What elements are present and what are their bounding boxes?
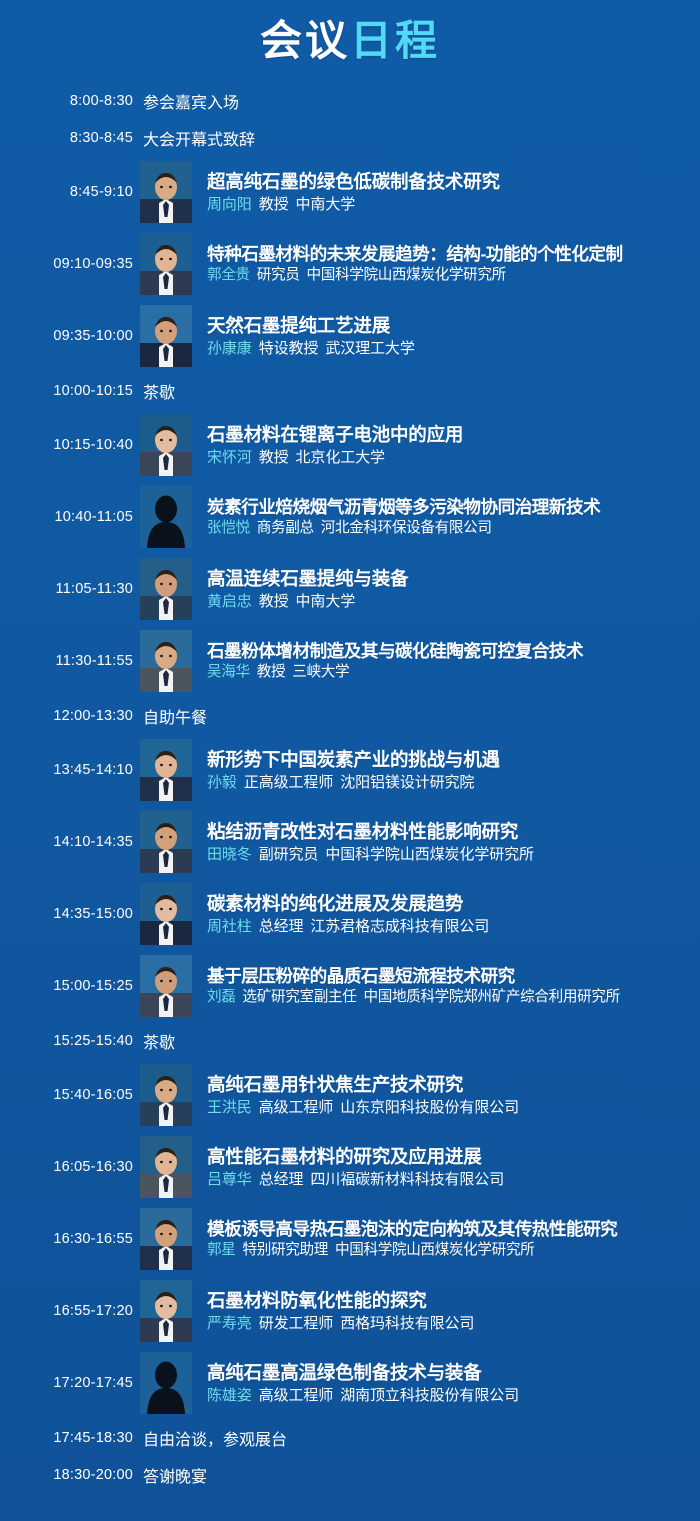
row-time: 15:40-16:05 — [0, 1087, 133, 1103]
row-time: 14:10-14:35 — [0, 834, 133, 850]
speaker-name: 周社柱 — [207, 918, 252, 935]
speaker-organization: 河北金科环保设备有限公司 — [321, 520, 492, 536]
speaker-name: 郭全贵 — [207, 267, 250, 283]
talk-meta: 王洪民高级工程师山东京阳科技股份有限公司 — [207, 1099, 694, 1116]
schedule-row-talk: 11:05-11:30高温连续石墨提纯与装备黄启忠教授中南大学 — [0, 553, 694, 625]
speaker-role: 正高级工程师 — [244, 774, 333, 791]
row-time: 10:40-11:05 — [0, 509, 133, 525]
schedule-row-break: 17:45-18:30自由洽谈，参观展台 — [0, 1419, 694, 1456]
speaker-portrait-icon — [140, 161, 192, 223]
row-time: 17:45-18:30 — [0, 1430, 133, 1446]
row-time: 8:00-8:30 — [0, 93, 133, 109]
speaker-role: 研究员 — [257, 267, 300, 283]
talk-body: 超高纯石墨的绿色低碳制备技术研究周向阳教授中南大学 — [192, 171, 694, 213]
schedule-list: 8:00-8:30参会嘉宾入场8:30-8:45大会开幕式致辞8:45-9:10… — [0, 82, 700, 1493]
schedule-row-talk: 10:15-10:40石墨材料在锂离子电池中的应用宋怀河教授北京化工大学 — [0, 409, 694, 481]
speaker-name: 孙康康 — [207, 340, 252, 357]
row-time: 14:35-15:00 — [0, 906, 133, 922]
talk-meta: 田晓冬副研究员中国科学院山西煤炭化学研究所 — [207, 846, 694, 863]
talk-meta: 陈雄姿高级工程师湖南顶立科技股份有限公司 — [207, 1387, 694, 1404]
talk-meta: 郭全贵研究员中国科学院山西煤炭化学研究所 — [207, 267, 694, 284]
speaker-portrait-icon — [140, 630, 192, 692]
speaker-role: 教授 — [259, 593, 289, 610]
row-time: 09:35-10:00 — [0, 328, 133, 344]
schedule-row-talk: 09:10-09:35特种石墨材料的未来发展趋势：结构-功能的个性化定制郭全贵研… — [0, 228, 694, 300]
talk-title: 碳素材料的纯化进展及发展趋势 — [207, 893, 694, 914]
row-time: 13:45-14:10 — [0, 762, 133, 778]
talk-title: 炭素行业焙烧烟气沥青烟等多污染物协同治理新技术 — [207, 497, 694, 517]
schedule-row-talk: 13:45-14:10新形势下中国炭素产业的挑战与机遇孙毅正高级工程师沈阳铝镁设… — [0, 734, 694, 806]
talk-meta: 孙康康特设教授武汉理工大学 — [207, 340, 694, 357]
speaker-portrait-icon — [140, 883, 192, 945]
talk-title: 基于层压粉碎的晶质石墨短流程技术研究 — [207, 966, 694, 986]
schedule-row-talk: 15:40-16:05高纯石墨用针状焦生产技术研究王洪民高级工程师山东京阳科技股… — [0, 1059, 694, 1131]
row-label: 自由洽谈，参观展台 — [133, 1426, 287, 1450]
page-header: 会议日程 — [0, 0, 700, 82]
talk-body: 新形势下中国炭素产业的挑战与机遇孙毅正高级工程师沈阳铝镁设计研究院 — [192, 749, 694, 791]
page-title-accent: 日程 — [350, 17, 440, 64]
talk-meta: 刘磊选矿研究室副主任中国地质科学院郑州矿产综合利用研究所 — [207, 989, 694, 1006]
talk-meta: 周社柱总经理江苏君格志成科技有限公司 — [207, 918, 694, 935]
speaker-role: 研发工程师 — [259, 1315, 334, 1332]
speaker-role: 总经理 — [259, 1171, 304, 1188]
speaker-silhouette-icon — [140, 486, 192, 548]
speaker-organization: 湖南顶立科技股份有限公司 — [340, 1387, 519, 1404]
talk-meta: 宋怀河教授北京化工大学 — [207, 449, 694, 466]
speaker-organization: 中南大学 — [296, 196, 356, 213]
speaker-organization: 山东京阳科技股份有限公司 — [340, 1099, 519, 1116]
talk-title: 石墨材料防氧化性能的探究 — [207, 1290, 694, 1311]
row-label: 大会开幕式致辞 — [133, 126, 255, 150]
talk-meta: 严寿亮研发工程师西格玛科技有限公司 — [207, 1315, 694, 1332]
schedule-row-break: 15:25-15:40茶歇 — [0, 1022, 694, 1059]
speaker-role: 总经理 — [259, 918, 304, 935]
speaker-organization: 中南大学 — [296, 593, 356, 610]
row-time: 12:00-13:30 — [0, 708, 133, 724]
row-time: 16:05-16:30 — [0, 1159, 133, 1175]
schedule-row-break: 8:30-8:45大会开幕式致辞 — [0, 119, 694, 156]
talk-body: 石墨材料在锂离子电池中的应用宋怀河教授北京化工大学 — [192, 424, 694, 466]
talk-title: 模板诱导高导热石墨泡沫的定向构筑及其传热性能研究 — [207, 1219, 694, 1239]
row-time: 8:45-9:10 — [0, 184, 133, 200]
talk-meta: 吴海华教授三峡大学 — [207, 664, 694, 681]
schedule-row-talk: 11:30-11:55石墨粉体增材制造及其与碳化硅陶瓷可控复合技术吴海华教授三峡… — [0, 625, 694, 697]
talk-title: 高纯石墨高温绿色制备技术与装备 — [207, 1362, 694, 1383]
talk-title: 高温连续石墨提纯与装备 — [207, 568, 694, 589]
row-label: 自助午餐 — [133, 704, 207, 728]
row-time: 8:30-8:45 — [0, 130, 133, 146]
speaker-name: 严寿亮 — [207, 1315, 252, 1332]
talk-meta: 孙毅正高级工程师沈阳铝镁设计研究院 — [207, 774, 694, 791]
speaker-name: 王洪民 — [207, 1099, 252, 1116]
row-time: 09:10-09:35 — [0, 256, 133, 272]
talk-meta: 郭星特别研究助理中国科学院山西煤炭化学研究所 — [207, 1242, 694, 1259]
schedule-row-talk: 16:05-16:30高性能石墨材料的研究及应用进展吕尊华总经理四川福碳新材料科… — [0, 1131, 694, 1203]
row-time: 18:30-20:00 — [0, 1467, 133, 1483]
talk-body: 炭素行业焙烧烟气沥青烟等多污染物协同治理新技术张恺悦商务副总河北金科环保设备有限… — [192, 497, 694, 537]
speaker-name: 郭星 — [207, 1242, 236, 1258]
schedule-row-break: 18:30-20:00答谢晚宴 — [0, 1456, 694, 1493]
speaker-name: 宋怀河 — [207, 449, 252, 466]
speaker-organization: 中国科学院山西煤炭化学研究所 — [325, 846, 534, 863]
talk-meta: 吕尊华总经理四川福碳新材料科技有限公司 — [207, 1171, 694, 1188]
talk-body: 石墨材料防氧化性能的探究严寿亮研发工程师西格玛科技有限公司 — [192, 1290, 694, 1332]
row-label: 答谢晚宴 — [133, 1463, 207, 1487]
speaker-portrait-icon — [140, 1208, 192, 1270]
speaker-name: 周向阳 — [207, 196, 252, 213]
speaker-portrait-icon — [140, 305, 192, 367]
talk-title: 粘结沥青改性对石墨材料性能影响研究 — [207, 821, 694, 842]
talk-body: 高纯石墨高温绿色制备技术与装备陈雄姿高级工程师湖南顶立科技股份有限公司 — [192, 1362, 694, 1404]
row-time: 16:30-16:55 — [0, 1231, 133, 1247]
talk-title: 高纯石墨用针状焦生产技术研究 — [207, 1074, 694, 1095]
speaker-portrait-icon — [140, 1064, 192, 1126]
talk-body: 高性能石墨材料的研究及应用进展吕尊华总经理四川福碳新材料科技有限公司 — [192, 1146, 694, 1188]
row-time: 11:05-11:30 — [0, 581, 133, 597]
speaker-organization: 中国科学院山西煤炭化学研究所 — [335, 1242, 534, 1258]
talk-meta: 黄启忠教授中南大学 — [207, 593, 694, 610]
row-time: 17:20-17:45 — [0, 1375, 133, 1391]
page-title-primary: 会议 — [260, 17, 350, 64]
speaker-portrait-icon — [140, 558, 192, 620]
schedule-row-talk: 14:35-15:00碳素材料的纯化进展及发展趋势周社柱总经理江苏君格志成科技有… — [0, 878, 694, 950]
talk-meta: 张恺悦商务副总河北金科环保设备有限公司 — [207, 520, 694, 537]
speaker-name: 田晓冬 — [207, 846, 252, 863]
talk-body: 石墨粉体增材制造及其与碳化硅陶瓷可控复合技术吴海华教授三峡大学 — [192, 641, 694, 681]
row-label: 参会嘉宾入场 — [133, 89, 239, 113]
schedule-row-talk: 17:20-17:45高纯石墨高温绿色制备技术与装备陈雄姿高级工程师湖南顶立科技… — [0, 1347, 694, 1419]
talk-body: 天然石墨提纯工艺进展孙康康特设教授武汉理工大学 — [192, 315, 694, 357]
speaker-portrait-icon — [140, 811, 192, 873]
speaker-portrait-icon — [140, 739, 192, 801]
speaker-organization: 北京化工大学 — [296, 449, 385, 466]
speaker-name: 吴海华 — [207, 664, 250, 680]
talk-body: 特种石墨材料的未来发展趋势：结构-功能的个性化定制郭全贵研究员中国科学院山西煤炭… — [192, 244, 694, 284]
schedule-row-break: 12:00-13:30自助午餐 — [0, 697, 694, 734]
speaker-portrait-icon — [140, 233, 192, 295]
speaker-organization: 武汉理工大学 — [325, 340, 414, 357]
speaker-role: 教授 — [259, 196, 289, 213]
talk-title: 石墨材料在锂离子电池中的应用 — [207, 424, 694, 445]
talk-title: 高性能石墨材料的研究及应用进展 — [207, 1146, 694, 1167]
speaker-portrait-icon — [140, 1136, 192, 1198]
speaker-organization: 江苏君格志成科技有限公司 — [310, 918, 489, 935]
schedule-row-talk: 14:10-14:35粘结沥青改性对石墨材料性能影响研究田晓冬副研究员中国科学院… — [0, 806, 694, 878]
talk-title: 石墨粉体增材制造及其与碳化硅陶瓷可控复合技术 — [207, 641, 694, 661]
speaker-name: 孙毅 — [207, 774, 237, 791]
talk-body: 高温连续石墨提纯与装备黄启忠教授中南大学 — [192, 568, 694, 610]
schedule-row-break: 10:00-10:15茶歇 — [0, 372, 694, 409]
row-time: 16:55-17:20 — [0, 1303, 133, 1319]
schedule-row-talk: 16:30-16:55模板诱导高导热石墨泡沫的定向构筑及其传热性能研究郭星特别研… — [0, 1203, 694, 1275]
speaker-portrait-icon — [140, 955, 192, 1017]
speaker-portrait-icon — [140, 414, 192, 476]
row-label: 茶歇 — [133, 379, 175, 403]
schedule-row-talk: 8:45-9:10超高纯石墨的绿色低碳制备技术研究周向阳教授中南大学 — [0, 156, 694, 228]
row-time: 10:15-10:40 — [0, 437, 133, 453]
talk-body: 碳素材料的纯化进展及发展趋势周社柱总经理江苏君格志成科技有限公司 — [192, 893, 694, 935]
schedule-row-talk: 09:35-10:00天然石墨提纯工艺进展孙康康特设教授武汉理工大学 — [0, 300, 694, 372]
row-time: 15:25-15:40 — [0, 1033, 133, 1049]
row-time: 10:00-10:15 — [0, 383, 133, 399]
talk-title: 天然石墨提纯工艺进展 — [207, 315, 694, 336]
talk-body: 粘结沥青改性对石墨材料性能影响研究田晓冬副研究员中国科学院山西煤炭化学研究所 — [192, 821, 694, 863]
talk-body: 模板诱导高导热石墨泡沫的定向构筑及其传热性能研究郭星特别研究助理中国科学院山西煤… — [192, 1219, 694, 1259]
speaker-role: 高级工程师 — [259, 1387, 334, 1404]
talk-meta: 周向阳教授中南大学 — [207, 196, 694, 213]
speaker-name: 黄启忠 — [207, 593, 252, 610]
speaker-organization: 中国科学院山西煤炭化学研究所 — [306, 267, 505, 283]
talk-title: 新形势下中国炭素产业的挑战与机遇 — [207, 749, 694, 770]
speaker-role: 特设教授 — [259, 340, 319, 357]
speaker-organization: 三峡大学 — [292, 664, 349, 680]
speaker-name: 张恺悦 — [207, 520, 250, 536]
speaker-role: 教授 — [257, 664, 286, 680]
page-title: 会议日程 — [260, 20, 440, 62]
speaker-silhouette-icon — [140, 1352, 192, 1414]
talk-title: 特种石墨材料的未来发展趋势：结构-功能的个性化定制 — [207, 244, 694, 264]
talk-body: 基于层压粉碎的晶质石墨短流程技术研究刘磊选矿研究室副主任中国地质科学院郑州矿产综… — [192, 966, 694, 1006]
speaker-organization: 沈阳铝镁设计研究院 — [340, 774, 474, 791]
row-time: 15:00-15:25 — [0, 978, 133, 994]
speaker-role: 特别研究助理 — [243, 1242, 328, 1258]
speaker-organization: 西格玛科技有限公司 — [340, 1315, 474, 1332]
schedule-row-talk: 15:00-15:25基于层压粉碎的晶质石墨短流程技术研究刘磊选矿研究室副主任中… — [0, 950, 694, 1022]
speaker-role: 商务副总 — [257, 520, 314, 536]
row-time: 11:30-11:55 — [0, 653, 133, 669]
speaker-name: 陈雄姿 — [207, 1387, 252, 1404]
schedule-row-break: 8:00-8:30参会嘉宾入场 — [0, 82, 694, 119]
speaker-organization: 中国地质科学院郑州矿产综合利用研究所 — [363, 989, 619, 1005]
talk-body: 高纯石墨用针状焦生产技术研究王洪民高级工程师山东京阳科技股份有限公司 — [192, 1074, 694, 1116]
schedule-row-talk: 16:55-17:20石墨材料防氧化性能的探究严寿亮研发工程师西格玛科技有限公司 — [0, 1275, 694, 1347]
speaker-name: 刘磊 — [207, 989, 236, 1005]
speaker-organization: 四川福碳新材料科技有限公司 — [310, 1171, 504, 1188]
speaker-role: 副研究员 — [259, 846, 319, 863]
speaker-portrait-icon — [140, 1280, 192, 1342]
talk-title: 超高纯石墨的绿色低碳制备技术研究 — [207, 171, 694, 192]
row-label: 茶歇 — [133, 1029, 175, 1053]
speaker-name: 吕尊华 — [207, 1171, 252, 1188]
speaker-role: 教授 — [259, 449, 289, 466]
speaker-role: 高级工程师 — [259, 1099, 334, 1116]
speaker-role: 选矿研究室副主任 — [243, 989, 357, 1005]
schedule-row-talk: 10:40-11:05炭素行业焙烧烟气沥青烟等多污染物协同治理新技术张恺悦商务副… — [0, 481, 694, 553]
conference-agenda-page: 会议日程 8:00-8:30参会嘉宾入场8:30-8:45大会开幕式致辞8:45… — [0, 0, 700, 1521]
